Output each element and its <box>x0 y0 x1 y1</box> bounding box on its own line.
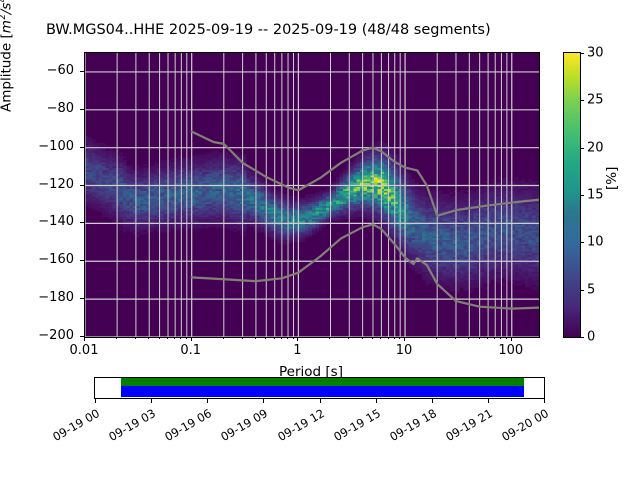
x-minor-tick-14 <box>287 337 288 339</box>
y-tick-mark-0 <box>80 71 84 72</box>
x-minor-tick-2 <box>148 337 149 339</box>
x-tick-label-4: 100 <box>498 344 523 357</box>
x-minor-tick-20 <box>380 337 381 339</box>
x-tick-label-0: 0.01 <box>70 344 99 357</box>
timeline-tick-mark-1 <box>151 399 152 403</box>
x-minor-tick-12 <box>274 337 275 339</box>
ppsd-heatmap-axes[interactable] <box>84 52 540 338</box>
x-minor-tick-19 <box>372 337 373 339</box>
y-tick-mark-6 <box>80 298 84 299</box>
x-minor-tick-15 <box>293 337 294 339</box>
x-minor-tick-23 <box>399 337 400 339</box>
x-tick-mark-3 <box>404 337 405 341</box>
timeline-tick-mark-7 <box>488 399 489 403</box>
timeline-tick-mark-3 <box>263 399 264 403</box>
x-minor-tick-17 <box>348 337 349 339</box>
x-tick-mark-2 <box>297 337 298 341</box>
timeline-tick-label-0: 09-19 00 <box>43 406 102 448</box>
y-axis: Amplitude [m2/s4/Hz] [dB] <box>0 0 84 336</box>
x-tick-label-1: 0.1 <box>180 344 201 357</box>
colorbar-tick-label-5: 25 <box>587 94 604 107</box>
y-tick-label-4: −140 <box>32 215 74 228</box>
x-minor-tick-25 <box>455 337 456 339</box>
y-tick-label-5: −160 <box>32 253 74 266</box>
x-minor-tick-13 <box>281 337 282 339</box>
x-minor-tick-0 <box>116 337 117 339</box>
x-minor-tick-31 <box>506 337 507 339</box>
timeline-tick-label-4: 09-19 12 <box>268 406 327 448</box>
x-minor-tick-21 <box>388 337 389 339</box>
x-minor-tick-6 <box>180 337 181 339</box>
timeline-tick-mark-2 <box>207 399 208 403</box>
x-minor-tick-7 <box>186 337 187 339</box>
x-minor-tick-29 <box>494 337 495 339</box>
ppsd-plot-canvas <box>85 53 539 337</box>
colorbar[interactable]: 051015202530 <box>563 52 581 338</box>
x-minor-tick-5 <box>174 337 175 339</box>
x-minor-tick-22 <box>394 337 395 339</box>
x-minor-tick-26 <box>468 337 469 339</box>
x-tick-mark-1 <box>191 337 192 341</box>
x-tick-label-3: 10 <box>396 344 413 357</box>
timeline-tick-mark-4 <box>320 399 321 403</box>
timeline-tick-label-2: 09-19 06 <box>155 406 214 448</box>
x-minor-tick-18 <box>362 337 363 339</box>
colorbar-tick-label-1: 5 <box>587 283 595 296</box>
timeline-tick-mark-8 <box>544 399 545 403</box>
x-minor-tick-1 <box>135 337 136 339</box>
colorbar-tick-label-4: 20 <box>587 141 604 154</box>
timeline-tick-label-7: 09-19 21 <box>436 406 495 448</box>
colorbar-label: [%] <box>604 167 620 190</box>
y-tick-label-7: −200 <box>32 329 74 342</box>
y-tick-mark-2 <box>80 147 84 148</box>
y-tick-label-1: −80 <box>32 102 74 115</box>
x-minor-tick-8 <box>223 337 224 339</box>
y-tick-mark-4 <box>80 222 84 223</box>
timeline-tick-mark-6 <box>432 399 433 403</box>
x-tick-mark-4 <box>511 337 512 341</box>
page-title: BW.MGS04..HHE 2025-09-19 -- 2025-09-19 (… <box>46 22 586 38</box>
y-tick-label-2: −100 <box>32 140 74 153</box>
x-minor-tick-11 <box>265 337 266 339</box>
y-tick-label-0: −60 <box>32 64 74 77</box>
y-axis-label: Amplitude [m2/s4/Hz] [dB] <box>0 0 15 112</box>
timeline-tick-mark-5 <box>376 399 377 403</box>
data-coverage-strip[interactable] <box>94 377 545 399</box>
colorbar-tick-mark-2 <box>580 242 584 243</box>
x-minor-tick-16 <box>329 337 330 339</box>
x-minor-tick-4 <box>167 337 168 339</box>
timeline-tick-label-5: 09-19 15 <box>324 406 383 448</box>
colorbar-tick-label-6: 30 <box>587 47 604 60</box>
colorbar-tick-label-2: 10 <box>587 236 604 249</box>
timeline-tick-label-6: 09-19 18 <box>380 406 439 448</box>
colorbar-tick-mark-5 <box>580 100 584 101</box>
colorbar-tick-mark-0 <box>580 337 584 338</box>
x-minor-tick-24 <box>436 337 437 339</box>
x-minor-tick-27 <box>479 337 480 339</box>
x-minor-tick-28 <box>487 337 488 339</box>
x-minor-tick-9 <box>242 337 243 339</box>
coverage-band-green <box>121 378 525 386</box>
colorbar-tick-label-0: 0 <box>587 331 595 344</box>
y-tick-mark-3 <box>80 185 84 186</box>
y-tick-mark-7 <box>80 336 84 337</box>
x-minor-tick-30 <box>500 337 501 339</box>
x-tick-mark-0 <box>84 337 85 341</box>
ppsd-density-cells <box>85 135 539 293</box>
y-tick-mark-5 <box>80 260 84 261</box>
timeline-tick-mark-0 <box>95 399 96 403</box>
colorbar-tick-mark-4 <box>580 148 584 149</box>
y-tick-label-6: −180 <box>32 291 74 304</box>
timeline-tick-label-1: 09-19 03 <box>99 406 158 448</box>
x-minor-tick-10 <box>255 337 256 339</box>
timeline-tick-label-3: 09-19 09 <box>211 406 270 448</box>
timeline-tick-label-8: 09-20 00 <box>492 406 551 448</box>
coverage-band-blue <box>121 386 525 397</box>
colorbar-tick-mark-1 <box>580 290 584 291</box>
colorbar-tick-mark-6 <box>580 53 584 54</box>
y-tick-mark-1 <box>80 109 84 110</box>
colorbar-tick-mark-3 <box>580 195 584 196</box>
x-minor-tick-3 <box>159 337 160 339</box>
x-tick-label-2: 1 <box>293 344 301 357</box>
y-tick-label-3: −120 <box>32 178 74 191</box>
colorbar-tick-label-3: 15 <box>587 189 604 202</box>
